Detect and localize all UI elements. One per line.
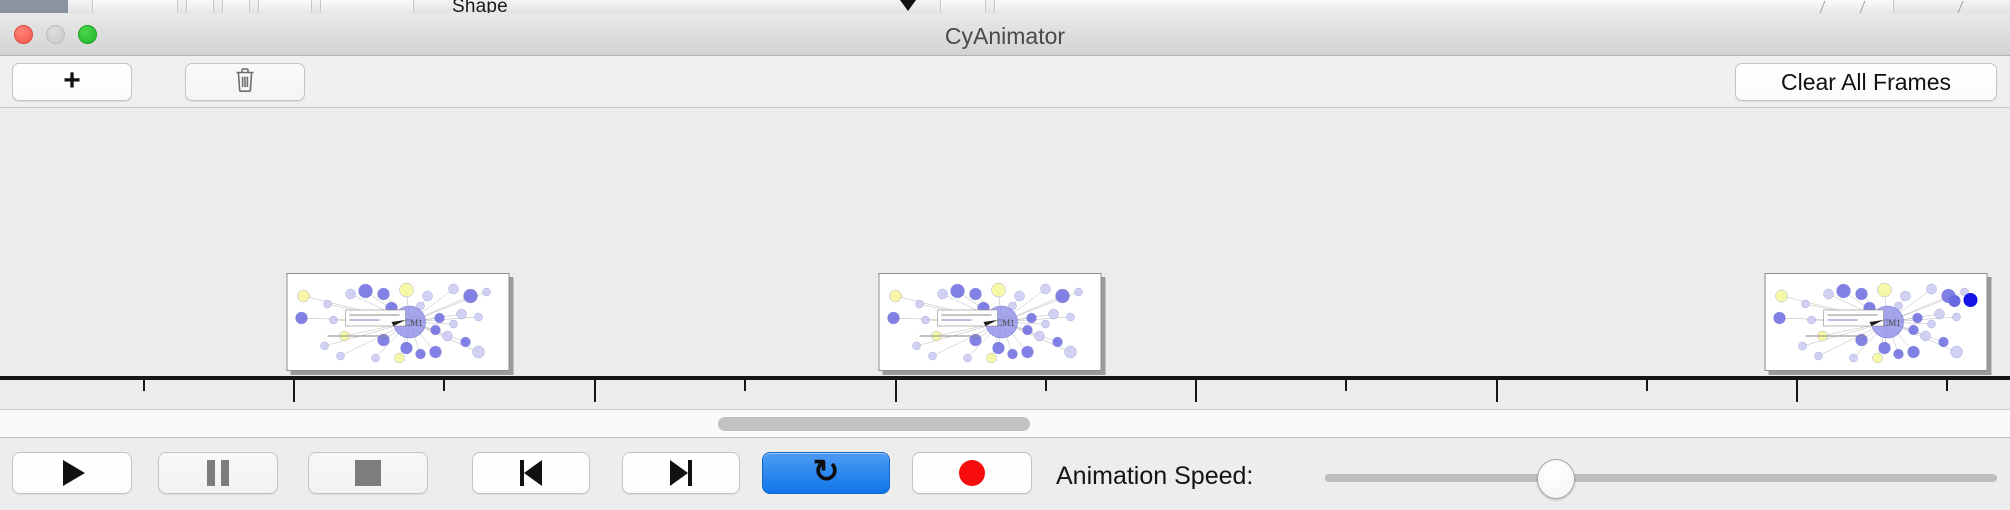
axis-tick [1195,380,1197,402]
axis-tick [443,380,445,391]
timeline-area[interactable]: MCM1 MCM1 MCM1 2131415161718 Seconds [0,108,2010,410]
frame-toolbar: + Clear All Frames [0,56,2010,108]
background-dark-segment [0,0,68,13]
frame-thumbnail-2[interactable]: MCM1 [879,273,1102,371]
record-button[interactable] [912,452,1032,494]
delete-frame-button[interactable] [185,63,305,101]
animation-speed-label: Animation Speed: [1056,462,1253,491]
axis-tick [293,380,295,402]
network-graph-preview: MCM1 [288,274,509,370]
window-titlebar[interactable]: CyAnimator [0,13,2010,56]
axis-tick [143,380,145,391]
axis-tick-label: 18 [1784,403,1811,410]
animation-speed-slider-thumb[interactable] [1537,459,1575,499]
network-graph-preview: MCM1 [880,274,1101,370]
stop-button[interactable] [308,452,428,494]
background-toolbar-segment [994,0,1894,14]
axis-tick-label: 13 [281,403,308,410]
background-caret-icon [900,0,916,11]
background-divider [1958,1,1964,13]
cyanimator-window: CyAnimator + Clear All Frames MCM1 [0,13,2010,510]
background-app-toolbar: Shape [0,0,2010,14]
background-toolbar-segment [92,0,178,14]
play-icon [63,460,85,486]
axis-tick-label: 15 [883,403,910,410]
window-title: CyAnimator [0,23,2010,50]
axis-tick [895,380,897,402]
axis-tick-label: 16 [1183,403,1210,410]
axis-tick [594,380,596,402]
background-toolbar-segment [222,0,250,14]
network-graph-preview: MCM1 [1766,274,1987,370]
frame-thumbnail-1[interactable]: MCM1 [287,273,510,371]
add-frame-button[interactable]: + [12,63,132,101]
axis-tick [1946,380,1948,391]
frame-thumbnail-3[interactable]: MCM1 [1765,273,1988,371]
timeline-axis [0,376,2010,380]
record-icon [959,460,985,486]
background-toolbar-segment [186,0,214,14]
background-toolbar-segment [258,0,312,14]
axis-tick-label: 14 [582,403,609,410]
plus-icon: + [63,66,81,96]
axis-tick [1345,380,1347,391]
clear-all-frames-label: Clear All Frames [1781,69,1951,96]
trash-icon [234,67,256,98]
axis-tick [1646,380,1648,391]
timeline-scrollbar-thumb[interactable] [718,417,1030,431]
background-toolbar-segment [940,0,986,14]
axis-tick [1796,380,1798,402]
pause-icon [207,460,229,486]
skip-forward-icon [670,460,692,486]
axis-tick-label: 17 [1484,403,1511,410]
background-shape-label: Shape [452,0,508,14]
animation-speed-slider[interactable] [1325,474,1997,482]
axis-tick [1496,380,1498,402]
skip-back-icon [520,460,542,486]
clear-all-frames-button[interactable]: Clear All Frames [1735,63,1997,101]
loop-button[interactable]: ↻ [762,452,890,494]
playback-control-bar: ↻ Animation Speed: [0,438,2010,509]
play-button[interactable] [12,452,132,494]
pause-button[interactable] [158,452,278,494]
skip-back-button[interactable] [472,452,590,494]
loop-icon: ↻ [813,455,840,487]
skip-forward-button[interactable] [622,452,740,494]
timeline-scrollbar[interactable] [0,410,2010,438]
axis-tick [744,380,746,391]
stop-icon [355,460,381,486]
background-toolbar-segment [320,0,414,14]
axis-tick [1045,380,1047,391]
